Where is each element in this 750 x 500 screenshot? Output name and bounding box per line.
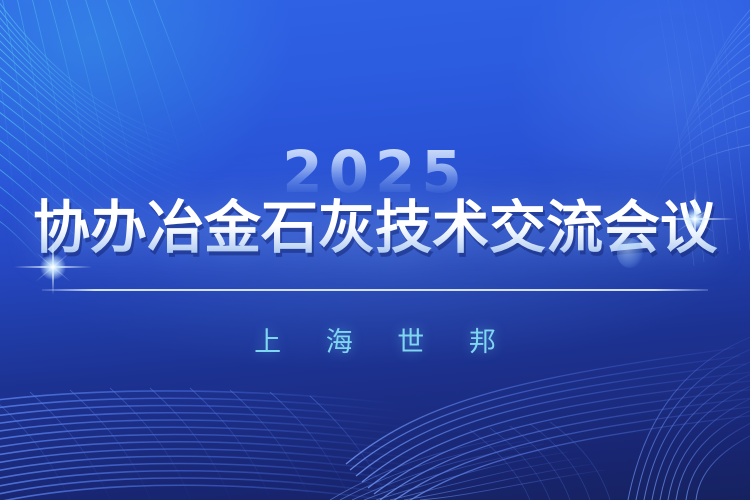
page-title: 协办冶金石灰技术交流会议 [0, 198, 750, 260]
organization-subtitle: 上 海 世 邦 [0, 320, 750, 359]
title-divider [42, 289, 708, 291]
event-year: 2025 [0, 143, 750, 201]
event-banner: 2025 协办冶金石灰技术交流会议 上 海 世 邦 [0, 0, 750, 500]
banner-text-block: 2025 协办冶金石灰技术交流会议 上 海 世 邦 [0, 0, 750, 500]
